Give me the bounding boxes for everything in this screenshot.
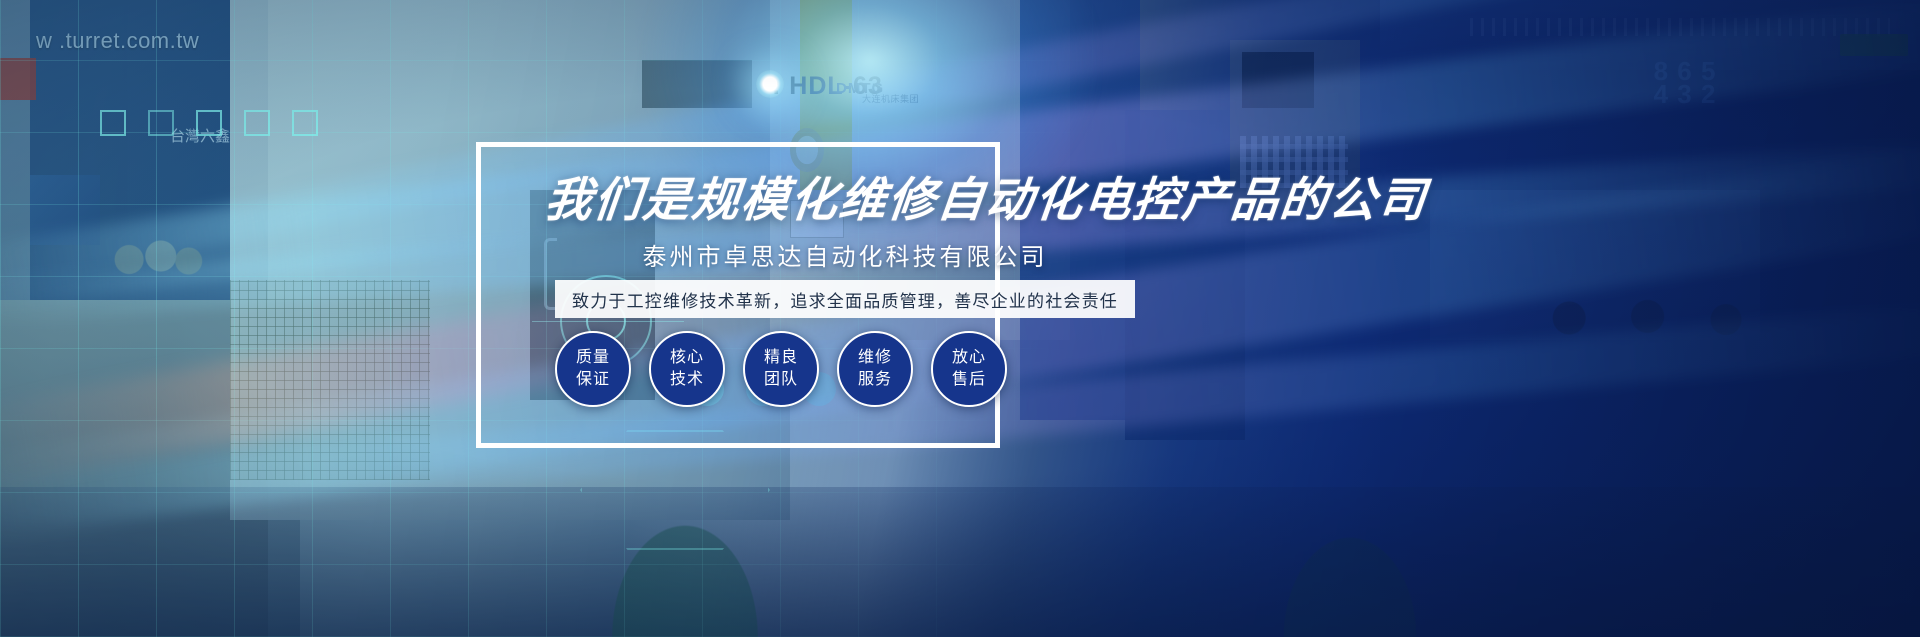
badge-line1: 质量 <box>576 347 610 369</box>
badge-line1: 维修 <box>858 347 892 369</box>
badge-line2: 服务 <box>858 369 892 391</box>
badge-line2: 售后 <box>952 369 986 391</box>
badge-line2: 团队 <box>764 369 798 391</box>
company-name: 泰州市卓思达自动化科技有限公司 <box>643 244 1048 271</box>
banner-headline: 我们是规模化维修自动化电控产品的公司 <box>543 178 1328 225</box>
badge-line1: 核心 <box>670 347 704 369</box>
banner-content: 我们是规模化维修自动化电控产品的公司 泰州市卓思达自动化科技有限公司 致力于工控… <box>0 0 1920 637</box>
badge-line1: 精良 <box>764 347 798 369</box>
slogan-bar: 致力于工控维修技术革新，追求全面品质管理，善尽企业的社会责任 <box>555 280 1135 318</box>
badge-line2: 保证 <box>576 369 610 391</box>
feature-badge-after-sales[interactable]: 放心 售后 <box>931 331 1007 407</box>
company-hero-banner: w .turret.com.tw 台灣六鑫 : HDL-63 DMTG 大连机床… <box>0 0 1920 637</box>
feature-badge-list: 质量 保证 核心 技术 精良 团队 维修 服务 放心 售后 <box>555 331 1108 409</box>
badge-line2: 技术 <box>670 369 704 391</box>
company-name-wrap: 泰州市卓思达自动化科技有限公司 <box>555 237 1135 272</box>
feature-badge-repair-service[interactable]: 维修 服务 <box>837 331 913 407</box>
feature-badge-quality[interactable]: 质量 保证 <box>555 331 631 407</box>
feature-badge-team[interactable]: 精良 团队 <box>743 331 819 407</box>
badge-line1: 放心 <box>952 347 986 369</box>
feature-badge-core-tech[interactable]: 核心 技术 <box>649 331 725 407</box>
slogan-text: 致力于工控维修技术革新，追求全面品质管理，善尽企业的社会责任 <box>572 287 1118 312</box>
